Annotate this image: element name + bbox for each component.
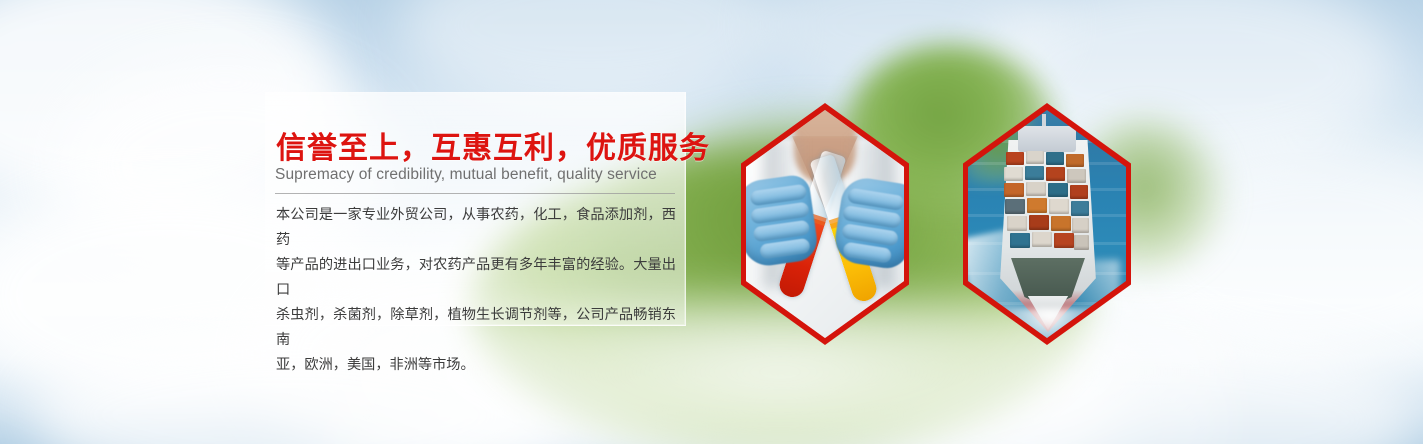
- cargo-container: [1054, 233, 1074, 248]
- description-text: 本公司是一家专业外贸公司，从事农药，化工，食品添加剂，西药 等产品的进出口业务，…: [276, 203, 676, 378]
- description-line: 亚，欧洲，美国，非洲等市场。: [276, 353, 676, 378]
- cargo-container: [1067, 169, 1086, 183]
- cargo-container: [1029, 215, 1049, 230]
- cargo-container: [1074, 235, 1089, 250]
- cargo-container: [1070, 185, 1088, 199]
- cargo-container: [1010, 233, 1030, 248]
- hexagon-laboratory-image: [746, 110, 904, 338]
- cargo-container: [1004, 167, 1023, 181]
- headline-chinese: 信誉至上，互惠互利，优质服务: [276, 123, 710, 167]
- cargo-container: [1032, 232, 1052, 247]
- cargo-container-stack: [1004, 150, 1092, 258]
- cargo-container: [1046, 167, 1065, 181]
- cargo-container: [1025, 166, 1044, 180]
- headline-english: Supremacy of credibility, mutual benefit…: [275, 166, 657, 184]
- description-line: 杀虫剂，杀菌剂，除草剂，植物生长调节剂等，公司产品畅销东南: [276, 303, 676, 353]
- cargo-container: [1051, 216, 1071, 231]
- cargo-container: [1006, 152, 1024, 165]
- hero-banner: 信誉至上，互惠互利，优质服务 Supremacy of credibility,…: [0, 0, 1423, 444]
- cargo-container: [1007, 216, 1027, 231]
- cargo-container: [1071, 201, 1089, 216]
- cargo-container: [1048, 183, 1068, 197]
- gloved-hand-left: [746, 173, 820, 268]
- cargo-container: [1049, 199, 1069, 214]
- cargo-container: [1046, 152, 1064, 165]
- cargo-container: [1066, 154, 1084, 167]
- cargo-container: [1026, 151, 1044, 164]
- description-line: 等产品的进出口业务，对农药产品更有多年丰富的经验。大量出口: [276, 253, 676, 303]
- ship-bridge: [1018, 126, 1076, 152]
- ship-scene: [968, 110, 1126, 338]
- cargo-container: [1072, 218, 1089, 233]
- cargo-container: [1026, 182, 1046, 196]
- cargo-container: [1005, 199, 1025, 214]
- hexagon-cargo-ship-image: [968, 110, 1126, 338]
- glove-finger: [759, 238, 811, 260]
- cargo-container: [1027, 198, 1047, 213]
- panel-divider: [275, 193, 675, 194]
- lab-scene: [746, 110, 904, 338]
- cargo-container: [1004, 183, 1024, 197]
- description-line: 本公司是一家专业外贸公司，从事农药，化工，食品添加剂，西药: [276, 203, 676, 253]
